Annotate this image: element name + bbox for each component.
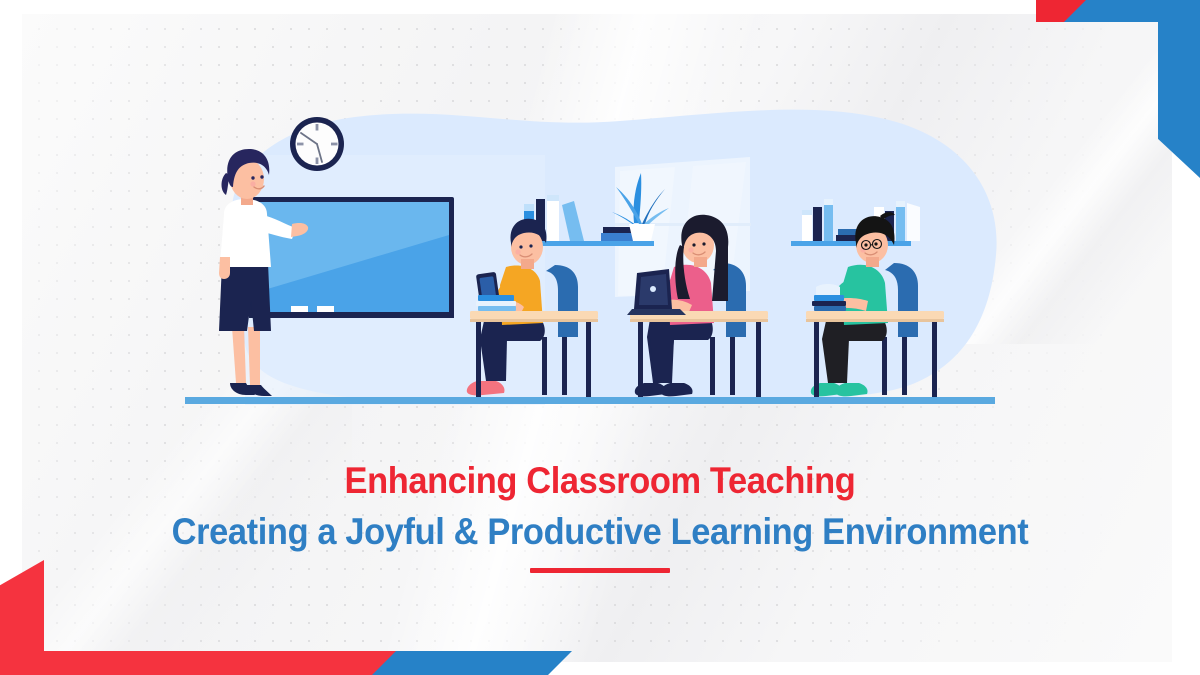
classroom-illustration (150, 95, 1050, 425)
headline-underline-rule (530, 568, 670, 573)
floor-line (185, 397, 995, 404)
headline-block: Enhancing Classroom Teaching Creating a … (0, 462, 1200, 573)
headline-line-2: Creating a Joyful & Productive Learning … (42, 513, 1158, 550)
bottom-blue-parallelogram (372, 651, 572, 675)
headline-line-1: Enhancing Classroom Teaching (42, 462, 1158, 499)
wall-clock (290, 117, 344, 171)
whiteboard (249, 197, 454, 318)
bottom-red-bar (0, 651, 430, 675)
banner: Enhancing Classroom Teaching Creating a … (0, 0, 1200, 675)
